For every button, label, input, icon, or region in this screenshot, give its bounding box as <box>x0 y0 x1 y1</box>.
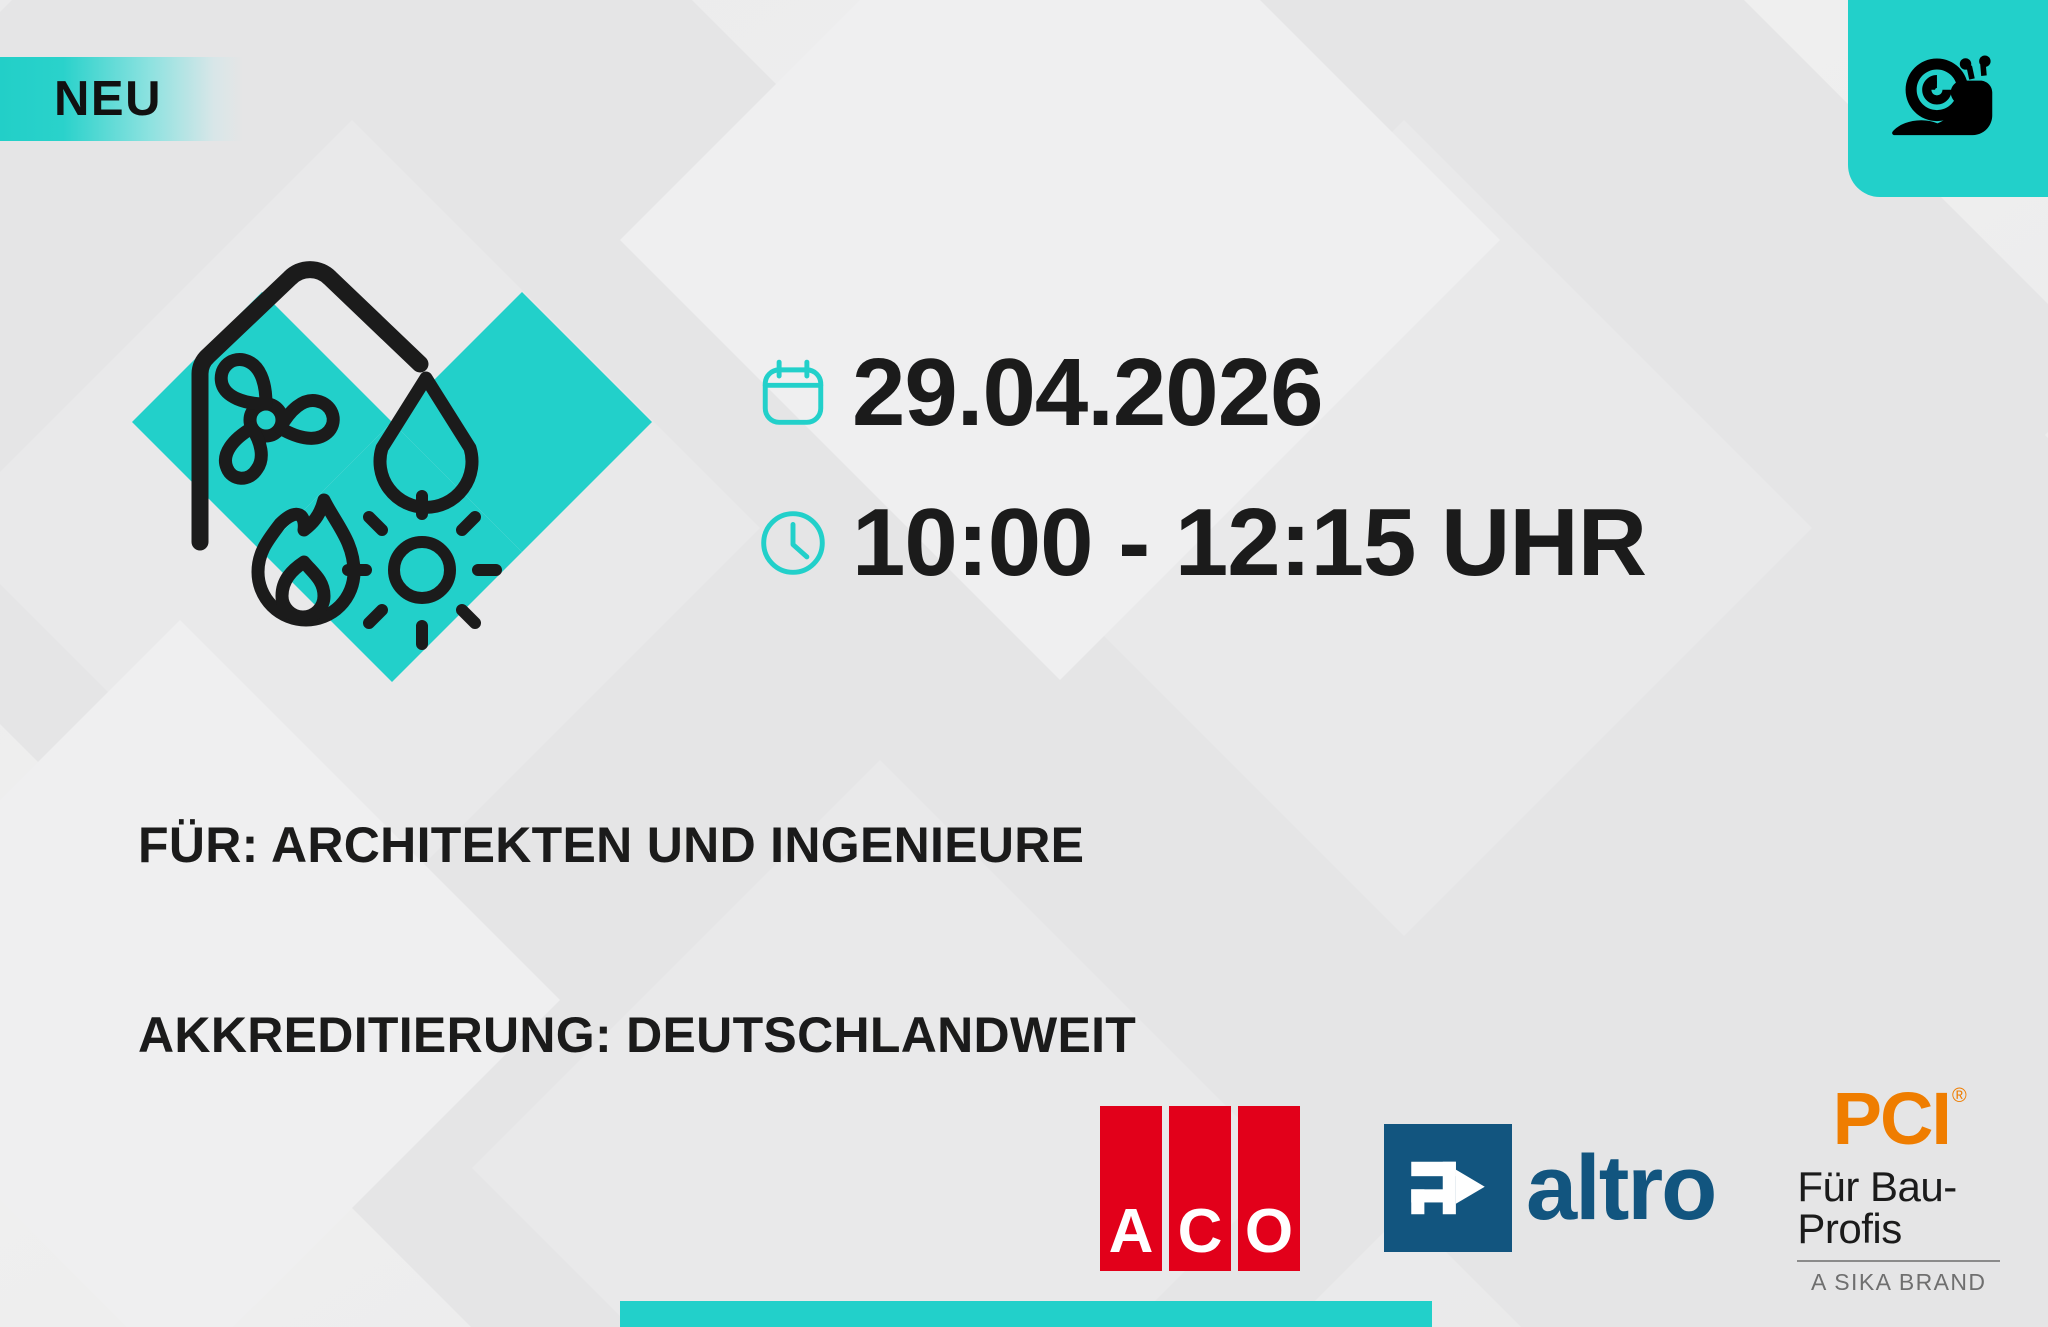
aco-bar: A <box>1100 1106 1162 1271</box>
altro-a-arrow-icon <box>1384 1124 1512 1252</box>
aco-letter-a: A <box>1100 1201 1162 1263</box>
calendar-icon <box>756 356 830 430</box>
footer-accent-bar <box>620 1301 1432 1327</box>
detail-line-accreditation: AKKREDITIERUNG: DEUTSCHLANDWEIT <box>138 1010 1438 1060</box>
detail-line-audience: FÜR: ARCHITEKTEN UND INGENIEURE <box>138 820 1438 870</box>
registered-trademark-icon: ® <box>1952 1086 1965 1106</box>
event-details: FÜR: ARCHITEKTEN UND INGENIEURE AKKREDIT… <box>138 820 1438 1060</box>
event-time: 10:00 - 12:15 UHR <box>852 495 1646 591</box>
event-date: 29.04.2026 <box>852 345 1322 441</box>
house-climate-icon <box>132 252 652 692</box>
partner-logo-altro: altro <box>1384 1113 1715 1263</box>
pci-brand-note: A SIKA BRAND <box>1811 1271 1986 1294</box>
new-badge-label: NEU <box>54 75 162 124</box>
pci-wordmark: PCI <box>1833 1082 1950 1156</box>
aco-bar: C <box>1169 1106 1231 1271</box>
aco-letter-c: C <box>1169 1201 1231 1263</box>
partner-logo-aco: A C O <box>1100 1106 1300 1271</box>
clock-icon <box>756 506 830 580</box>
event-time-row: 10:00 - 12:15 UHR <box>756 468 1646 618</box>
partner-logo-pci: PCI ® Für Bau-Profis A SIKA BRAND <box>1797 1082 2000 1294</box>
altro-wordmark: altro <box>1526 1142 1715 1234</box>
event-date-row: 29.04.2026 <box>756 318 1646 468</box>
snail-icon <box>1889 40 2007 158</box>
pci-tagline: Für Bau-Profis <box>1797 1166 2000 1250</box>
pci-wordmark-row: PCI ® <box>1833 1082 1965 1156</box>
partner-logos: A C O altro <box>1100 1098 2000 1278</box>
new-badge: NEU <box>0 57 243 141</box>
promo-card: NEU <box>0 0 2048 1327</box>
aco-bar: O <box>1238 1106 1300 1271</box>
aco-letter-o: O <box>1238 1201 1300 1263</box>
pci-divider <box>1797 1260 2000 1262</box>
event-meta: 29.04.2026 10:00 - 12:15 UHR <box>756 318 1646 618</box>
brand-tile <box>1848 0 2048 197</box>
